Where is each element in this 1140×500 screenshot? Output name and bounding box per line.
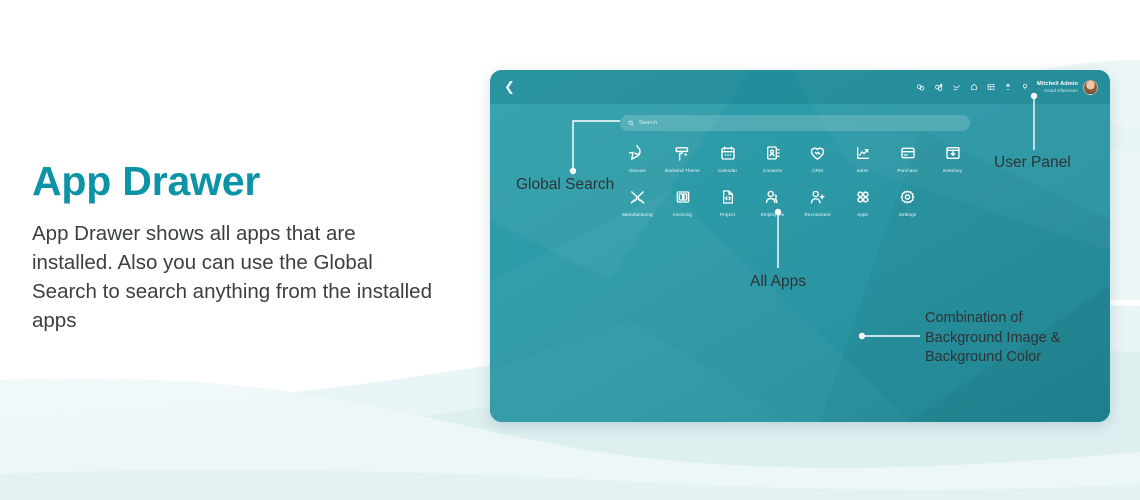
tools-icon [629, 186, 646, 208]
grid-apps-icon[interactable] [987, 83, 995, 91]
app-item-project[interactable]: Project [705, 186, 750, 217]
app-item-inventory[interactable]: Inventory [930, 142, 975, 173]
avatar[interactable] [1083, 80, 1098, 95]
app-label: Discuss [629, 168, 646, 173]
system-tray-icons [916, 83, 1029, 92]
discuss-icon [629, 142, 646, 164]
app-label: Purchase [897, 168, 917, 173]
mail-icon[interactable] [952, 83, 961, 92]
annotation-background-combination: Combination of Background Image & Backgr… [925, 309, 1060, 368]
app-item-manufacturing[interactable]: Manufacturing [615, 186, 660, 217]
user-panel[interactable]: Mitchell Admin Good Afternoon [1037, 80, 1098, 95]
app-label: Invoicing [673, 212, 692, 217]
annotation-line-3: Background Color [925, 348, 1060, 368]
annotation-user-panel: User Panel [994, 154, 1071, 172]
app-item-invoicing[interactable]: Invoicing [660, 186, 705, 217]
app-label: CRM [812, 168, 823, 173]
panel-topbar: ❮ [490, 70, 1110, 104]
app-item-settings[interactable]: Settings [885, 186, 930, 217]
app-item-recruitment[interactable]: Recruitment [795, 186, 840, 217]
app-label: Inventory [943, 168, 963, 173]
people-icon [764, 186, 781, 208]
app-label: Calendar [718, 168, 737, 173]
app-item-discuss[interactable]: Discuss [615, 142, 660, 173]
app-label: Settings [899, 212, 916, 217]
inbox-download-icon [945, 142, 961, 164]
card-icon [900, 142, 916, 164]
user-greeting: Good Afternoon [1044, 88, 1078, 93]
calendar-icon [720, 142, 736, 164]
app-item-purchase[interactable]: Purchase [885, 142, 930, 173]
search-icon [628, 120, 634, 126]
activities-icon[interactable] [934, 83, 943, 92]
app-label: Recruitment [805, 212, 831, 217]
app-item-apps[interactable]: Apps [840, 186, 885, 217]
annotation-line-1: Combination of [925, 309, 1060, 329]
support-icon[interactable] [1004, 83, 1012, 91]
app-item-employees[interactable]: Employees [750, 186, 795, 217]
app-label: Apps [857, 212, 868, 217]
app-label: Project [720, 212, 735, 217]
page-root: App Drawer App Drawer shows all apps tha… [0, 0, 1140, 500]
person-plus-icon [809, 186, 826, 208]
search-placeholder: Search [639, 120, 657, 126]
home-icon[interactable] [970, 83, 978, 91]
app-label: Contacts [763, 168, 782, 173]
paint-roller-icon [674, 142, 691, 164]
app-label: Backend Theme [665, 168, 700, 173]
app-label: Employees [761, 212, 785, 217]
app-label: Manufacturing [622, 212, 652, 217]
annotation-line-2: Background Image & [925, 329, 1060, 349]
dollar-frame-icon [675, 186, 691, 208]
four-circles-icon [855, 186, 871, 208]
heart-handshake-icon [809, 142, 826, 164]
address-book-icon [765, 142, 781, 164]
app-item-calendar[interactable]: Calendar [705, 142, 750, 173]
page-description: App Drawer shows all apps that are insta… [32, 219, 432, 335]
app-item-sales[interactable]: Sales [840, 142, 885, 173]
app-item-backend-theme[interactable]: Backend Theme [660, 142, 705, 173]
copy-block: App Drawer App Drawer shows all apps tha… [32, 160, 432, 335]
app-grid: Discuss Backend Theme [615, 142, 975, 217]
app-item-contacts[interactable]: Contacts [750, 142, 795, 173]
messages-icon[interactable] [916, 83, 925, 92]
code-file-icon [720, 186, 736, 208]
app-label: Sales [856, 168, 868, 173]
app-item-crm[interactable]: CRM [795, 142, 840, 173]
chevron-left-icon[interactable]: ❮ [504, 81, 515, 94]
gear-icon [899, 186, 916, 208]
help-icon[interactable] [1021, 83, 1029, 91]
line-chart-icon [855, 142, 871, 164]
page-title: App Drawer [32, 160, 432, 203]
annotation-all-apps: All Apps [750, 273, 806, 291]
search-input[interactable]: Search [620, 115, 970, 131]
annotation-global-search: Global Search [516, 176, 614, 194]
app-drawer-panel: ❮ [490, 70, 1110, 422]
user-names: Mitchell Admin Good Afternoon [1037, 81, 1078, 93]
